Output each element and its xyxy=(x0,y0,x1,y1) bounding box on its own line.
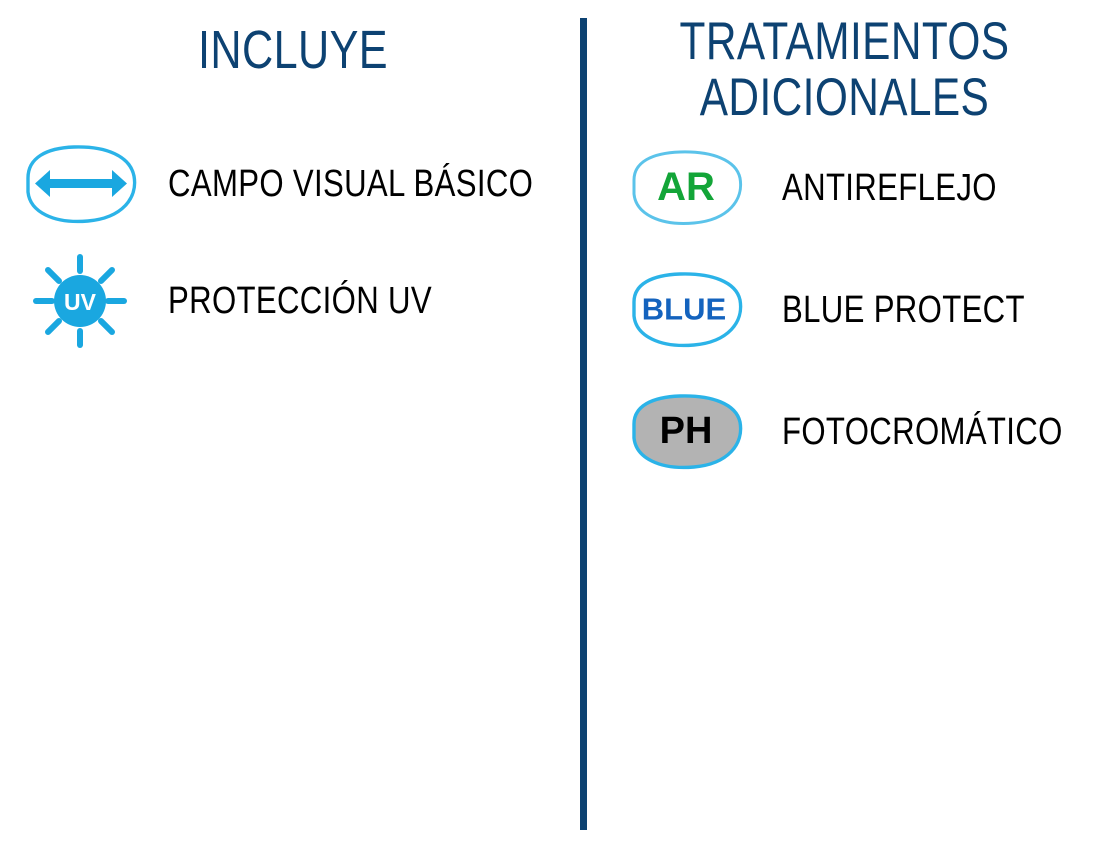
feature-label-campo-visual: CAMPO VISUAL BÁSICO xyxy=(168,163,533,206)
included-features-column: INCLUYE CAMPO VISUAL BÁSICO xyxy=(0,0,586,847)
feature-label-fotocromatico: FOTOCROMÁTICO xyxy=(782,411,1063,454)
uv-badge-text: UV xyxy=(64,289,97,315)
feature-row-antireflejo[interactable]: AR ANTIREFLEJO xyxy=(620,140,1044,236)
feature-label-blue-protect: BLUE PROTECT xyxy=(782,289,1025,332)
additional-treatments-section-title: TRATAMIENTOS ADICIONALES xyxy=(638,14,1052,125)
uv-sun-icon: UV xyxy=(10,253,150,349)
feature-label-proteccion-uv: PROTECCIÓN UV xyxy=(168,280,432,323)
feature-row-proteccion-uv[interactable]: UV PROTECCIÓN UV xyxy=(10,253,490,349)
lens-ar-icon: AR xyxy=(620,140,760,236)
included-section-title: INCLUYE xyxy=(59,22,528,79)
lens-arrow-icon xyxy=(10,136,150,232)
lens-blue-icon: BLUE xyxy=(620,262,760,358)
ph-badge-text: PH xyxy=(660,410,713,452)
ar-badge-text: AR xyxy=(657,165,715,209)
feature-row-blue-protect[interactable]: BLUE BLUE PROTECT xyxy=(620,262,1078,358)
lens-ph-icon: PH xyxy=(620,384,760,480)
feature-row-fotocromatico[interactable]: PH FOTOCROMÁTICO xyxy=(620,384,1103,480)
blue-badge-text: BLUE xyxy=(642,292,726,327)
feature-label-antireflejo: ANTIREFLEJO xyxy=(782,167,997,210)
feature-row-campo-visual[interactable]: CAMPO VISUAL BÁSICO xyxy=(10,136,613,232)
